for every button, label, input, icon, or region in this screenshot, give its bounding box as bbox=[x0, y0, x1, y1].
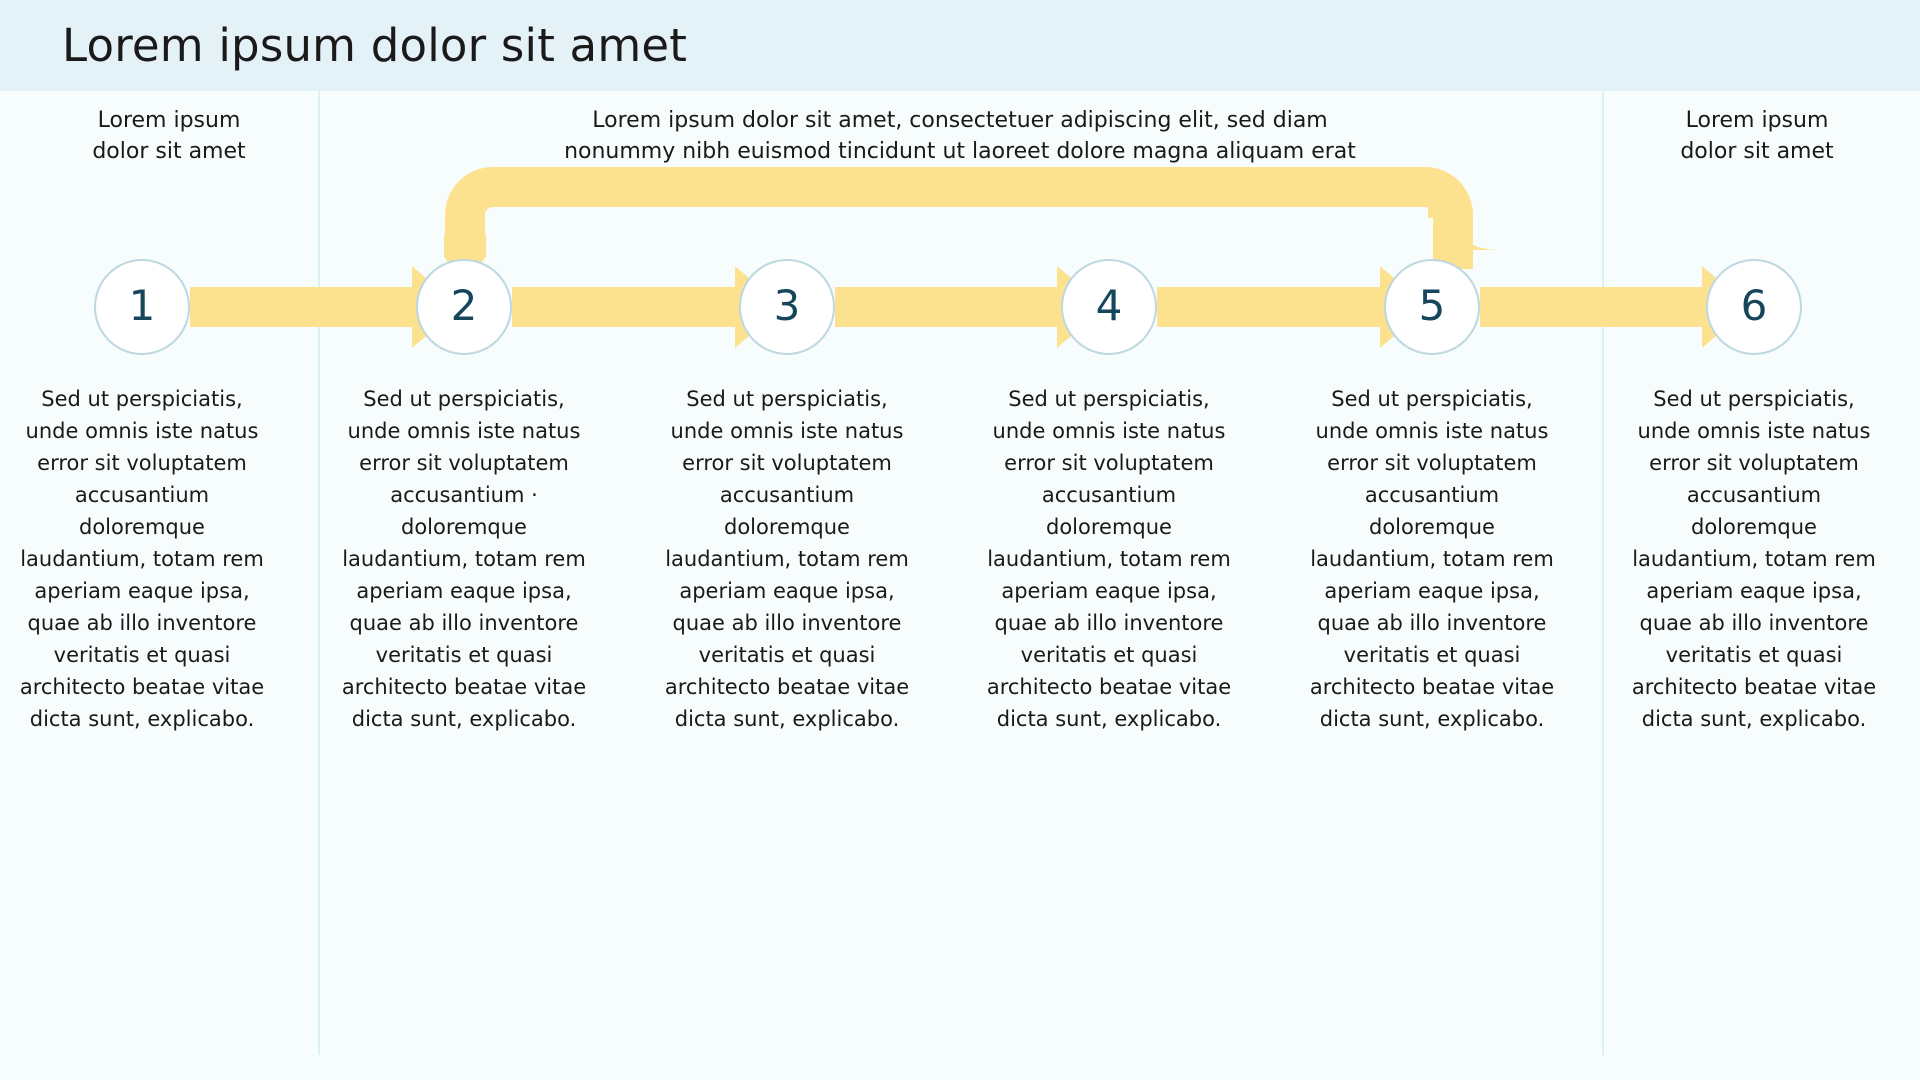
group-header-middle-line1: Lorem ipsum dolor sit amet, consectetuer… bbox=[332, 105, 1588, 136]
step-circle-6[interactable]: 6 bbox=[1706, 259, 1802, 355]
column-divider-left bbox=[318, 91, 320, 1055]
group-header-left: Lorem ipsum dolor sit amet bbox=[28, 105, 310, 167]
step-circle-5[interactable]: 5 bbox=[1384, 259, 1480, 355]
step-body-3: Sed ut perspiciatis, unde omnis iste nat… bbox=[664, 383, 910, 735]
column-divider-right bbox=[1602, 91, 1604, 1055]
step-body-4: Sed ut perspiciatis, unde omnis iste nat… bbox=[986, 383, 1232, 735]
step-number-3: 3 bbox=[774, 285, 801, 330]
step-number-2: 2 bbox=[451, 285, 478, 330]
group-header-middle-line2: nonummy nibh euismod tincidunt ut laoree… bbox=[332, 136, 1588, 167]
step-body-2: Sed ut perspiciatis, unde omnis iste nat… bbox=[341, 383, 587, 735]
group-header-right-line2: dolor sit amet bbox=[1612, 136, 1902, 167]
step-circle-3[interactable]: 3 bbox=[739, 259, 835, 355]
loopback-arrow-5-to-2 bbox=[1428, 180, 1498, 258]
step-number-4: 4 bbox=[1096, 285, 1123, 330]
step-body-1: Sed ut perspiciatis, unde omnis iste nat… bbox=[19, 383, 265, 735]
slide-canvas: Lorem ipsum dolor sit amet Lorem ipsum d… bbox=[0, 0, 1920, 1080]
group-header-left-line2: dolor sit amet bbox=[28, 136, 310, 167]
group-header-right-line1: Lorem ipsum bbox=[1612, 105, 1902, 136]
group-header-left-line1: Lorem ipsum bbox=[28, 105, 310, 136]
step-circle-1[interactable]: 1 bbox=[94, 259, 190, 355]
step-number-1: 1 bbox=[129, 285, 156, 330]
step-number-5: 5 bbox=[1419, 285, 1446, 330]
step-circle-2[interactable]: 2 bbox=[416, 259, 512, 355]
step-body-5: Sed ut perspiciatis, unde omnis iste nat… bbox=[1309, 383, 1555, 735]
step-circle-4[interactable]: 4 bbox=[1061, 259, 1157, 355]
group-header-middle: Lorem ipsum dolor sit amet, consectetuer… bbox=[332, 105, 1588, 167]
loopback-arrow-group bbox=[444, 187, 1453, 296]
step-body-6: Sed ut perspiciatis, unde omnis iste nat… bbox=[1631, 383, 1877, 735]
loopback-arrow-body bbox=[465, 187, 1453, 260]
step-number-6: 6 bbox=[1741, 285, 1768, 330]
loopback-arrowhead-wing-left bbox=[444, 235, 486, 258]
page-title: Lorem ipsum dolor sit amet bbox=[62, 18, 687, 74]
group-header-right: Lorem ipsum dolor sit amet bbox=[1612, 105, 1902, 167]
